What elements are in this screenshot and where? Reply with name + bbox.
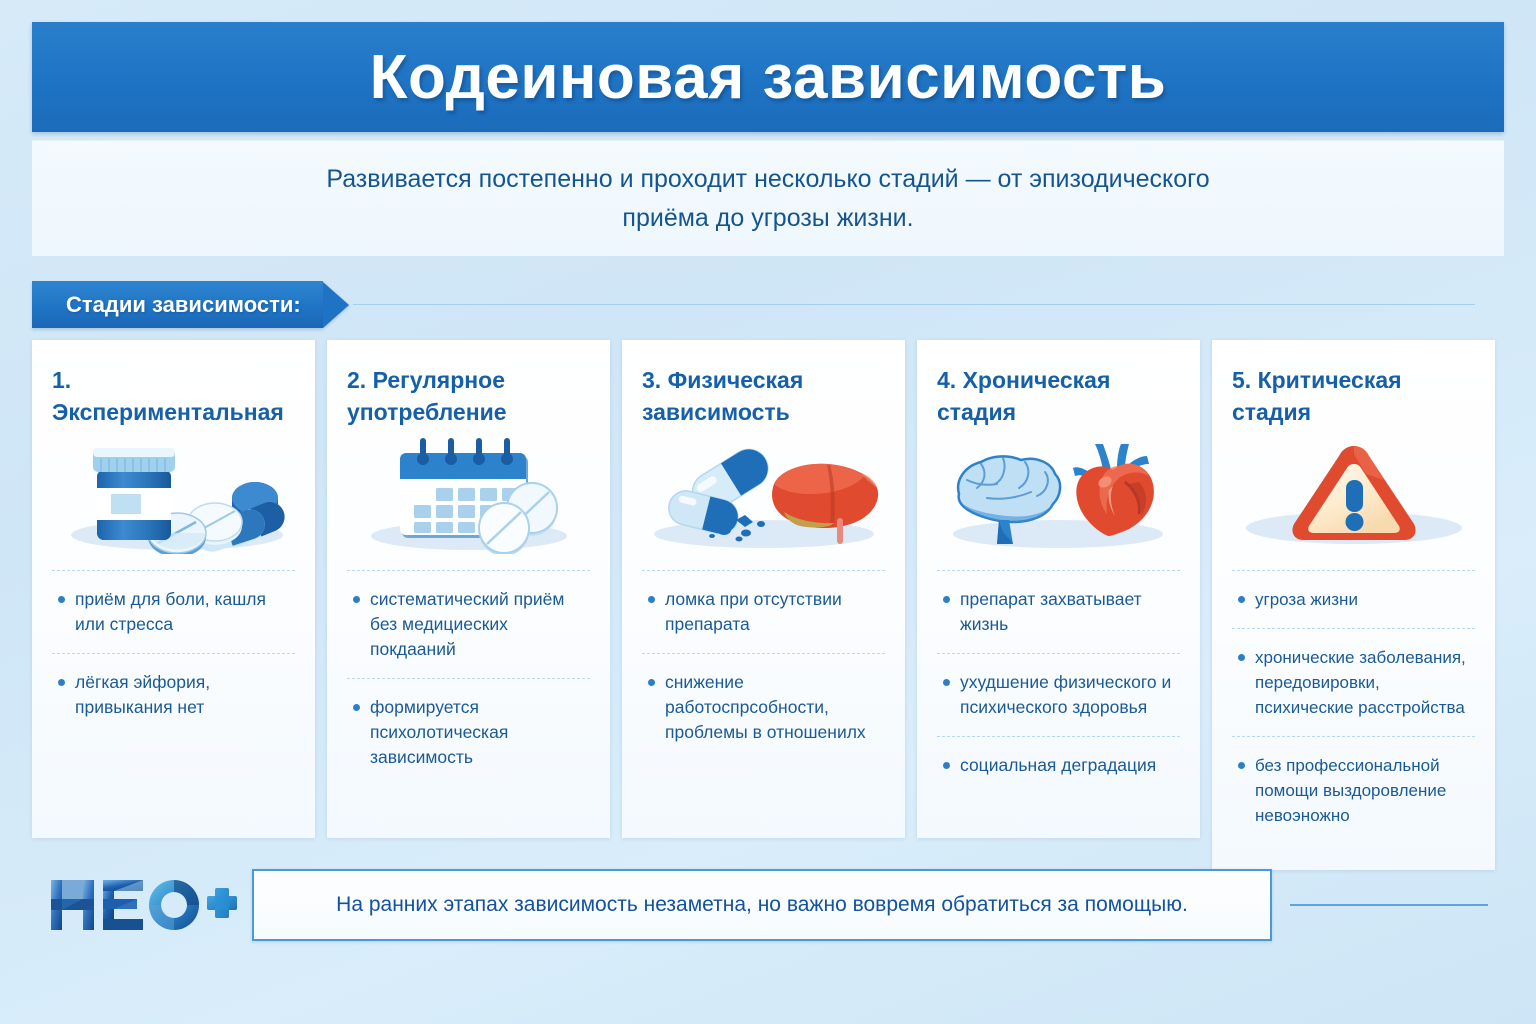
- bullet-text: хронические заболевания, передовировки, …: [1255, 645, 1475, 720]
- capsule-liver-icon: [642, 436, 885, 554]
- bullet-dot-icon: [943, 762, 950, 769]
- footer: На ранних этапах зависимость незаметна, …: [32, 862, 1504, 948]
- subtitle-panel: Развивается постепенно и проходит нескол…: [32, 140, 1504, 256]
- footer-rule: [1290, 904, 1488, 906]
- bullet-dot-icon: [353, 596, 360, 603]
- stages-card-row: 1. Экспериментальная: [32, 340, 1504, 870]
- bullet-text: ухудшение физического и психического здо…: [960, 670, 1180, 720]
- list-item: без профессиональной помощи выздоровлени…: [1232, 736, 1475, 844]
- stage-card-3-title: 3. Физическая зависимость: [642, 364, 885, 430]
- page-title-bar: Кодеиновая зависимость: [32, 22, 1504, 132]
- bullet-dot-icon: [1238, 762, 1245, 769]
- footer-note-box: На ранних этапах зависимость незаметна, …: [252, 869, 1272, 941]
- list-item: хронические заболевания, передовировки, …: [1232, 628, 1475, 736]
- bullet-dot-icon: [58, 596, 65, 603]
- bullet-text: снижение работоспрсобности, проблемы в о…: [665, 670, 885, 745]
- bullet-dot-icon: [943, 679, 950, 686]
- section-banner: Стадии зависимости:: [32, 281, 1475, 328]
- stage-card-2[interactable]: 2. Регулярное употребление: [327, 340, 610, 838]
- stage-card-2-bullets: систематический приём без медициеских по…: [347, 570, 590, 786]
- footer-note-text: На ранних этапах зависимость незаметна, …: [336, 893, 1188, 917]
- stage-card-4[interactable]: 4. Хроническая стадия: [917, 340, 1200, 838]
- list-item: ухудшение физического и психического здо…: [937, 653, 1180, 736]
- stage-card-5-title: 5. Критическая стадия: [1232, 364, 1475, 430]
- banner-rule: [353, 304, 1475, 305]
- stage-card-5[interactable]: 5. Критическая стадия: [1212, 340, 1495, 870]
- bullet-dot-icon: [58, 679, 65, 686]
- list-item: систематический приём без медициеских по…: [347, 570, 590, 678]
- list-item: ломка при отсутствии препарата: [642, 570, 885, 653]
- subtitle-line-1: Развивается постепенно и проходит нескол…: [326, 160, 1209, 199]
- brand-logo[interactable]: [32, 874, 252, 936]
- list-item: угроза жизни: [1232, 570, 1475, 628]
- bullet-text: лёгкая эйфория, привыкания нет: [75, 670, 295, 720]
- list-item: формируется психолотическая зависимость: [347, 678, 590, 786]
- stage-card-1-bullets: приём для боли, кашля или стресса лёгкая…: [52, 570, 295, 736]
- pill-bottle-icon: [52, 436, 295, 554]
- stage-card-5-bullets: угроза жизни хронические заболевания, пе…: [1232, 570, 1475, 844]
- brain-heart-icon: [937, 436, 1180, 554]
- warning-triangle-icon: [1232, 436, 1475, 554]
- bullet-text: приём для боли, кашля или стресса: [75, 587, 295, 637]
- bullet-text: препарат захватывает жизнь: [960, 587, 1180, 637]
- bullet-dot-icon: [1238, 654, 1245, 661]
- bullet-dot-icon: [1238, 596, 1245, 603]
- subtitle-line-2: приёма до угрозы жизни.: [622, 199, 913, 238]
- stage-card-4-title: 4. Хроническая стадия: [937, 364, 1180, 430]
- list-item: лёгкая эйфория, привыкания нет: [52, 653, 295, 736]
- bullet-text: социальная деградация: [960, 753, 1156, 778]
- stage-card-2-title: 2. Регулярное употребление: [347, 364, 590, 430]
- bullet-text: угроза жизни: [1255, 587, 1358, 612]
- bullet-dot-icon: [353, 704, 360, 711]
- stage-card-3[interactable]: 3. Физическая зависимость: [622, 340, 905, 838]
- stage-card-4-bullets: препарат захватывает жизнь ухудшение физ…: [937, 570, 1180, 794]
- banner-arrow-icon: [323, 282, 349, 328]
- list-item: приём для боли, кашля или стресса: [52, 570, 295, 653]
- bullet-dot-icon: [943, 596, 950, 603]
- list-item: социальная деградация: [937, 736, 1180, 794]
- bullet-dot-icon: [648, 596, 655, 603]
- bullet-text: без профессиональной помощи выздоровлени…: [1255, 753, 1475, 828]
- bullet-text: ломка при отсутствии препарата: [665, 587, 885, 637]
- bullet-dot-icon: [648, 679, 655, 686]
- list-item: препарат захватывает жизнь: [937, 570, 1180, 653]
- page-title: Кодеиновая зависимость: [370, 42, 1167, 113]
- bullet-text: формируется психолотическая зависимость: [370, 695, 590, 770]
- list-item: снижение работоспрсобности, проблемы в о…: [642, 653, 885, 761]
- calendar-pills-icon: [347, 436, 590, 554]
- stage-card-3-bullets: ломка при отсутствии препарата снижение …: [642, 570, 885, 761]
- bullet-text: систематический приём без медициеских по…: [370, 587, 590, 662]
- section-banner-body: Стадии зависимости:: [32, 281, 323, 328]
- section-banner-label: Стадии зависимости:: [66, 292, 301, 318]
- stage-card-1-title: 1. Экспериментальная: [52, 364, 295, 430]
- stage-card-1[interactable]: 1. Экспериментальная: [32, 340, 315, 838]
